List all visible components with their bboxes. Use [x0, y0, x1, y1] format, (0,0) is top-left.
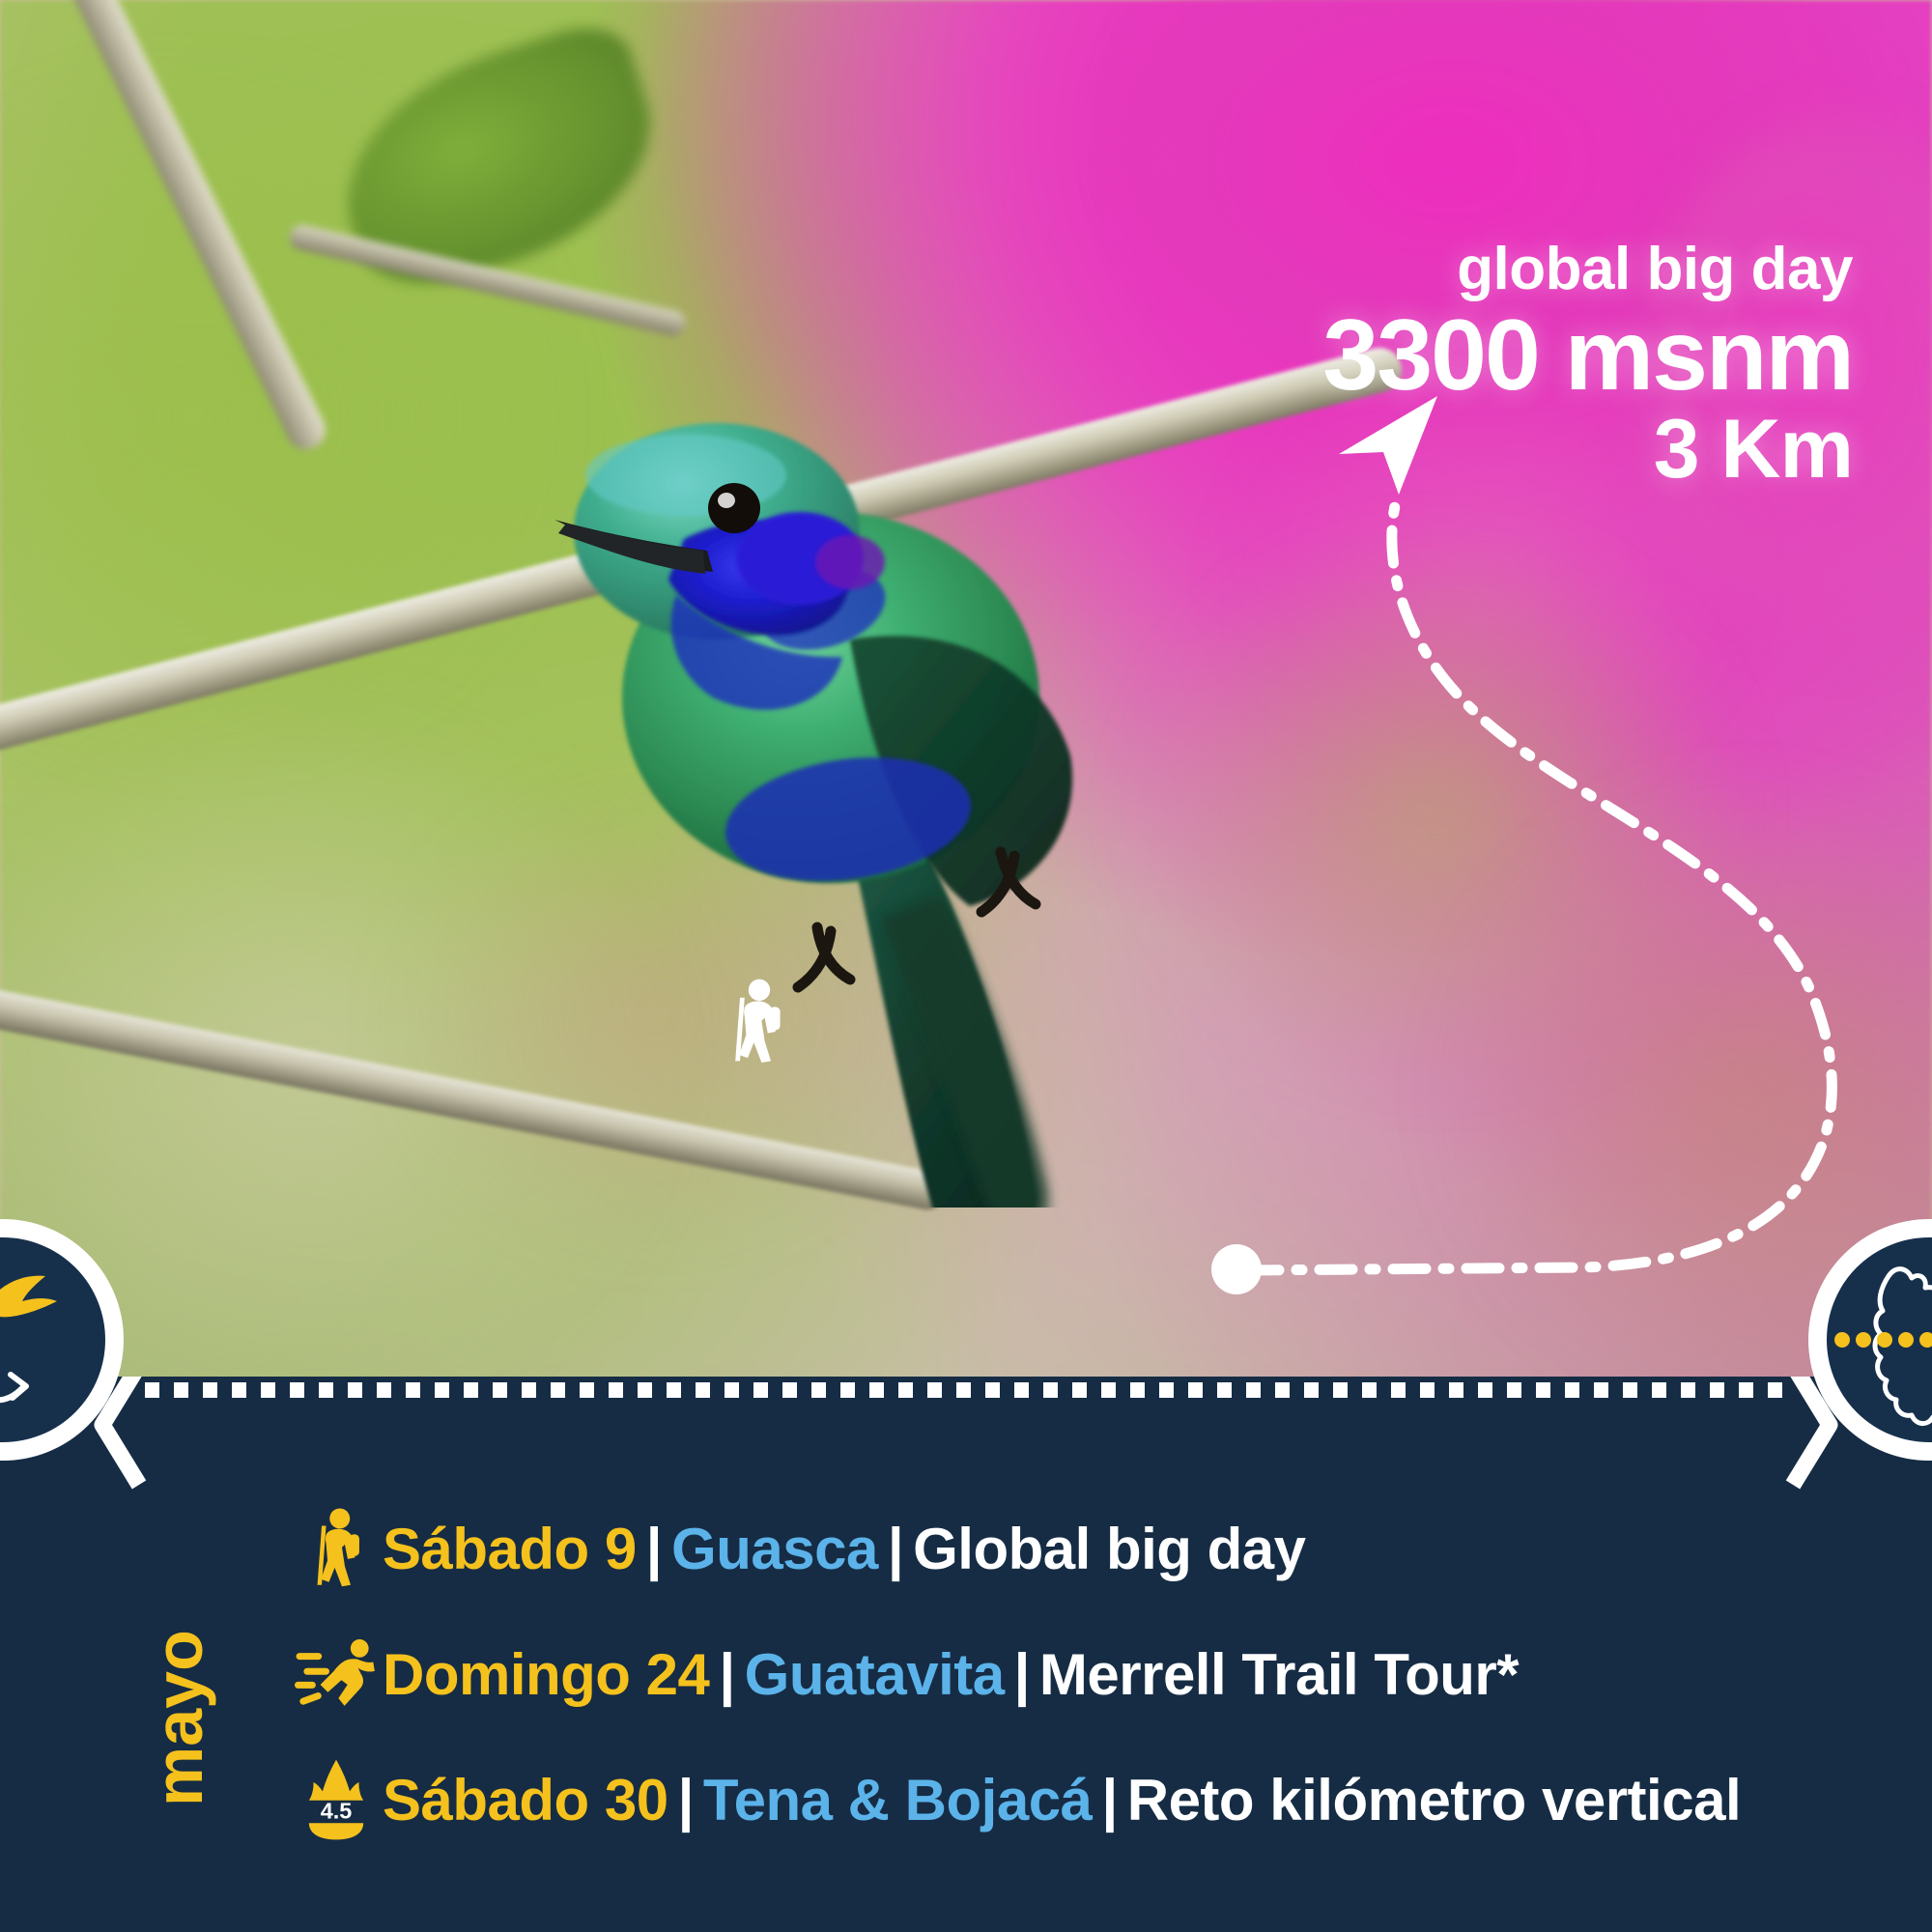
event-text-1: Sábado 9|Guasca|Global big day: [383, 1516, 1306, 1582]
events-list: Sábado 9|Guasca|Global big day: [290, 1486, 1874, 1862]
dotted-arrow-right-icon: [1834, 1321, 1932, 1359]
event-date: Domingo 24: [383, 1642, 709, 1707]
event-title: Merrell Trail Tour*: [1039, 1642, 1519, 1707]
flying-bird-icon: [0, 1276, 57, 1318]
event-title: Reto kilómetro vertical: [1127, 1768, 1741, 1833]
event-separator: |: [637, 1517, 671, 1581]
mountain-4-5-icon: 4.5: [290, 1753, 383, 1846]
hiker-icon: [290, 1502, 383, 1595]
headline-line-2: 3300 msnm: [1322, 305, 1853, 406]
mountain-badge-value: 4.5: [321, 1799, 353, 1824]
event-separator-2: |: [1092, 1768, 1126, 1833]
event-date: Sábado 30: [383, 1768, 668, 1833]
event-row-2[interactable]: Domingo 24|Guatavita|Merrell Trail Tour*: [290, 1611, 1874, 1737]
event-title: Global big day: [913, 1517, 1305, 1581]
event-separator: |: [709, 1642, 744, 1707]
headline-line-1: global big day: [1322, 240, 1853, 299]
poster: global big day 3300 msnm 3 Km: [0, 0, 1932, 1932]
event-text-2: Domingo 24|Guatavita|Merrell Trail Tour*: [383, 1641, 1519, 1708]
headline-line-3: 3 Km: [1322, 408, 1853, 491]
hiker-marker-icon: [717, 978, 794, 1066]
panel-dashed-border: [145, 1382, 1787, 1398]
hummingbird: [541, 415, 1236, 1207]
event-place: Guatavita: [745, 1642, 1005, 1707]
runner-icon: [290, 1628, 383, 1720]
event-separator-2: |: [878, 1517, 913, 1581]
event-row-1[interactable]: Sábado 9|Guasca|Global big day: [290, 1486, 1874, 1611]
event-separator: |: [668, 1768, 703, 1833]
event-text-3: Sábado 30|Tena & Bojacá|Reto kilómetro v…: [383, 1767, 1741, 1833]
event-place: Guasca: [671, 1517, 878, 1581]
event-place: Tena & Bojacá: [703, 1768, 1093, 1833]
event-date: Sábado 9: [383, 1517, 637, 1581]
headline-overlay: global big day 3300 msnm 3 Km: [1322, 240, 1853, 491]
event-row-3[interactable]: 4.5 Sábado 30|Tena & Bojacá|Reto kilómet…: [290, 1737, 1874, 1862]
event-separator-2: |: [1005, 1642, 1039, 1707]
month-label: mayo: [145, 1630, 213, 1806]
